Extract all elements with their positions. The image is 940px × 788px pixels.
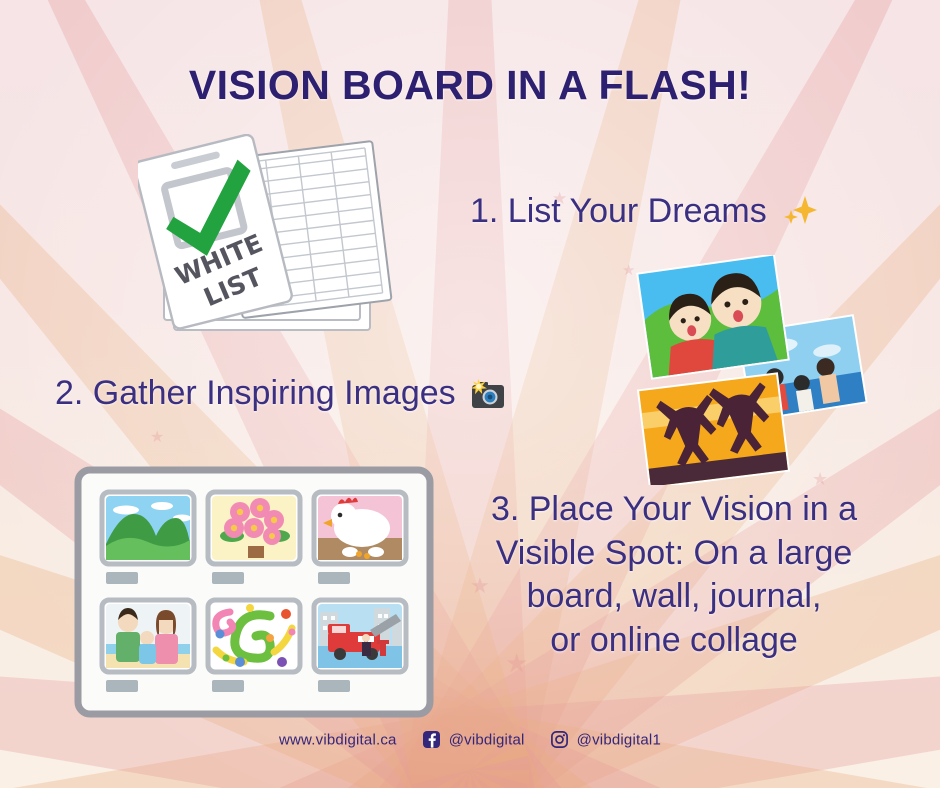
step-3-line-3: board, wall, journal, (432, 575, 916, 619)
facebook-icon[interactable] (423, 731, 440, 748)
picture-chicken (314, 492, 406, 564)
footer-bar: www.vibdigital.ca @vibdigital @vibdigita… (0, 731, 940, 749)
footer-website[interactable]: www.vibdigital.ca (279, 732, 397, 749)
poster-title: VISION BOARD IN A FLASH! (0, 62, 940, 109)
photo-collage-illustration (635, 255, 935, 485)
picture-fire-truck (314, 600, 406, 672)
picture-abstract-swirl (208, 600, 300, 672)
step-3-line-4: or online collage (432, 619, 916, 663)
white-list-clipboard-illustration: WHITE LIST (138, 134, 398, 344)
picture-mountains (102, 492, 194, 564)
step-3: 3. Place Your Vision in a Visible Spot: … (432, 488, 916, 662)
step-2-text: 2. Gather Inspiring Images (55, 374, 456, 412)
instagram-icon[interactable] (551, 731, 568, 748)
caption-bar (318, 572, 350, 584)
footer-facebook-handle[interactable]: @vibdigital (449, 732, 525, 749)
step-1: 1. List Your Dreams (470, 190, 910, 234)
poster-canvas: ★ ★ ★ ★ ★ ★ ★ ★ VISION BOARD IN A FLASH! (0, 0, 940, 788)
caption-bar (106, 680, 138, 692)
sparkles-icon (780, 194, 818, 228)
caption-bar (212, 572, 244, 584)
picture-family (102, 600, 194, 672)
step-3-line-1: 3. Place Your Vision in a (432, 488, 916, 532)
step-2: 2. Gather Inspiring Images (55, 372, 635, 416)
camera-with-flash-icon (471, 379, 505, 409)
caption-bar (212, 680, 244, 692)
photo-sunset-jumping-silhouettes (637, 372, 790, 485)
step-3-line-2: Visible Spot: On a large (432, 532, 916, 576)
footer-instagram-handle[interactable]: @vibdigital1 (577, 732, 661, 749)
picture-pink-flowers (208, 492, 300, 564)
caption-bar (318, 680, 350, 692)
vision-board-gallery-illustration (74, 466, 434, 718)
step-1-text: 1. List Your Dreams (470, 192, 767, 230)
caption-bar (106, 572, 138, 584)
photo-kids-on-grass (636, 255, 790, 380)
